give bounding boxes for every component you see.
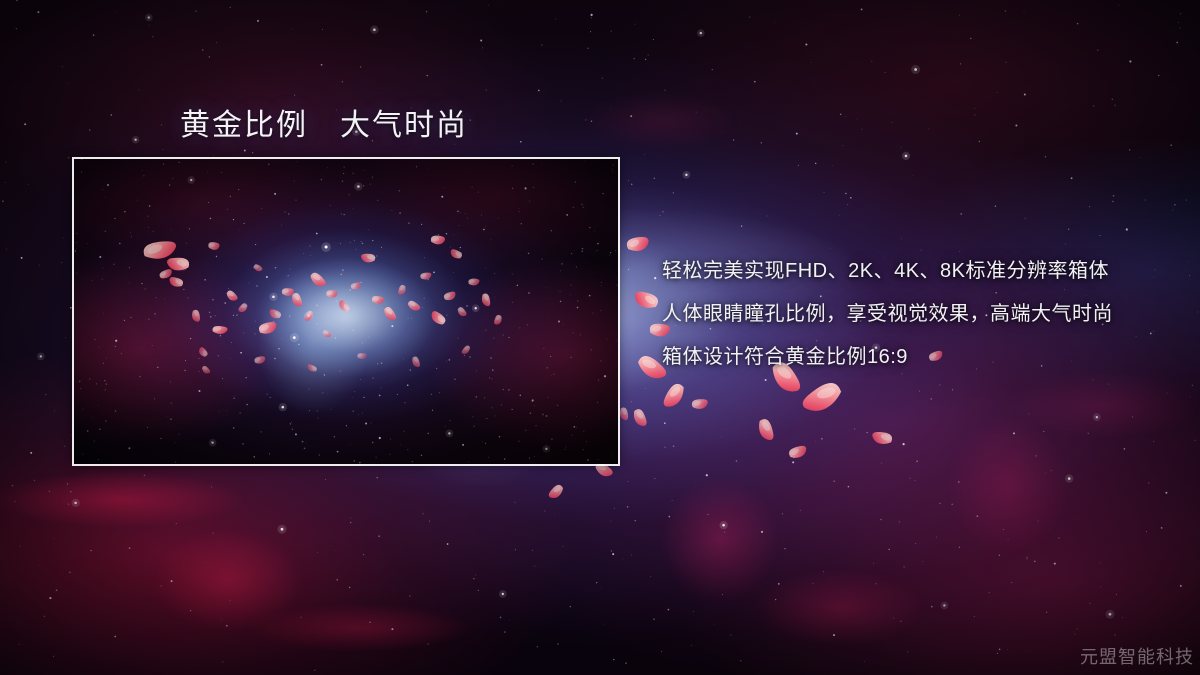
rose-petal — [632, 286, 661, 313]
rose-petal — [870, 428, 894, 448]
slide-title: 黄金比例 大气时尚 — [180, 100, 468, 144]
rose-petal — [546, 483, 565, 500]
rose-petal — [787, 442, 809, 462]
body-line-2: 人体眼睛瞳孔比例，享受视觉效果，高端大气时尚 — [662, 293, 1182, 336]
body-line-3: 箱体设计符合黄金比例16:9 — [662, 336, 1182, 379]
rose-petal — [754, 417, 778, 443]
preview-frame[interactable] — [72, 157, 620, 466]
rose-petal — [659, 381, 689, 410]
rose-petal — [691, 396, 710, 412]
rose-petal — [799, 380, 845, 415]
watermark: 元盟智能科技 — [1080, 643, 1194, 669]
frame-vignette — [74, 159, 618, 464]
slide-canvas: 黄金比例 大气时尚 轻松完美实现FHD、2K、4K、8K标准分辨率箱体 人体眼睛… — [0, 0, 1200, 675]
rose-petal — [625, 232, 652, 256]
rose-petal — [630, 407, 651, 428]
body-text-block: 轻松完美实现FHD、2K、4K、8K标准分辨率箱体 人体眼睛瞳孔比例，享受视觉效… — [662, 250, 1182, 379]
body-line-1: 轻松完美实现FHD、2K、4K、8K标准分辨率箱体 — [662, 250, 1182, 293]
